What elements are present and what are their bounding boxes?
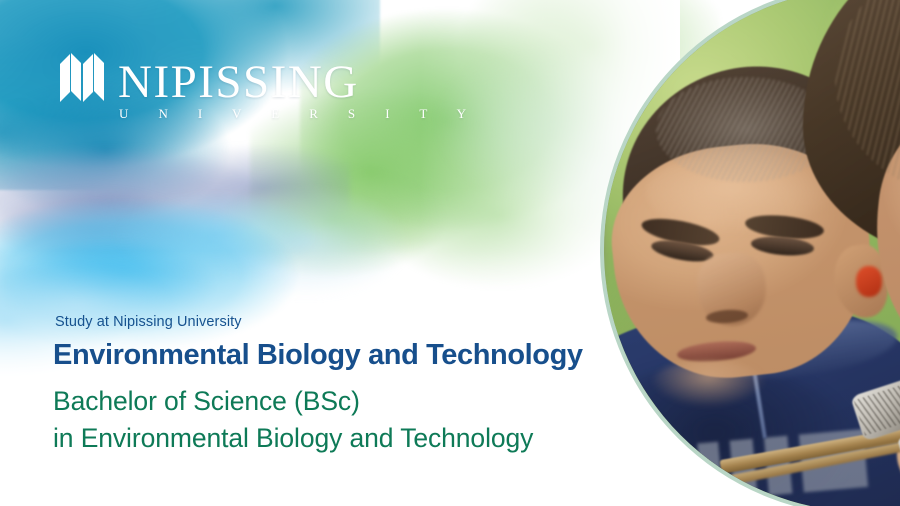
watercolor-pale-blue-wash bbox=[180, 170, 460, 330]
promo-banner: NIPISSING U N I V E R S I T Y Study at N… bbox=[0, 0, 900, 506]
watercolor-green-wash-4 bbox=[200, 140, 530, 320]
degree-text: Bachelor of Science (BSc) in Environment… bbox=[53, 383, 613, 456]
nipissing-university-logo[interactable]: NIPISSING U N I V E R S I T Y bbox=[60, 52, 479, 122]
page-title: Environmental Biology and Technology bbox=[53, 340, 613, 370]
program-copy-block: Study at Nipissing University Environmen… bbox=[53, 314, 613, 457]
watercolor-cyan-wash-3 bbox=[90, 170, 370, 300]
watercolor-lavender-wash-2 bbox=[0, 170, 250, 290]
nipissing-n-monogram-icon bbox=[60, 52, 106, 104]
student-photo bbox=[604, 0, 900, 506]
student-photo-circle bbox=[600, 0, 900, 506]
degree-line-1: Bachelor of Science (BSc) bbox=[53, 383, 613, 420]
photo-color-grade bbox=[604, 0, 900, 506]
eyebrow-text: Study at Nipissing University bbox=[55, 314, 613, 330]
logo-wordmark: NIPISSING bbox=[118, 61, 359, 104]
degree-line-2: in Environmental Biology and Technology bbox=[53, 420, 613, 457]
logo-subtitle: U N I V E R S I T Y bbox=[118, 106, 479, 122]
watercolor-lavender-wash bbox=[0, 135, 350, 285]
